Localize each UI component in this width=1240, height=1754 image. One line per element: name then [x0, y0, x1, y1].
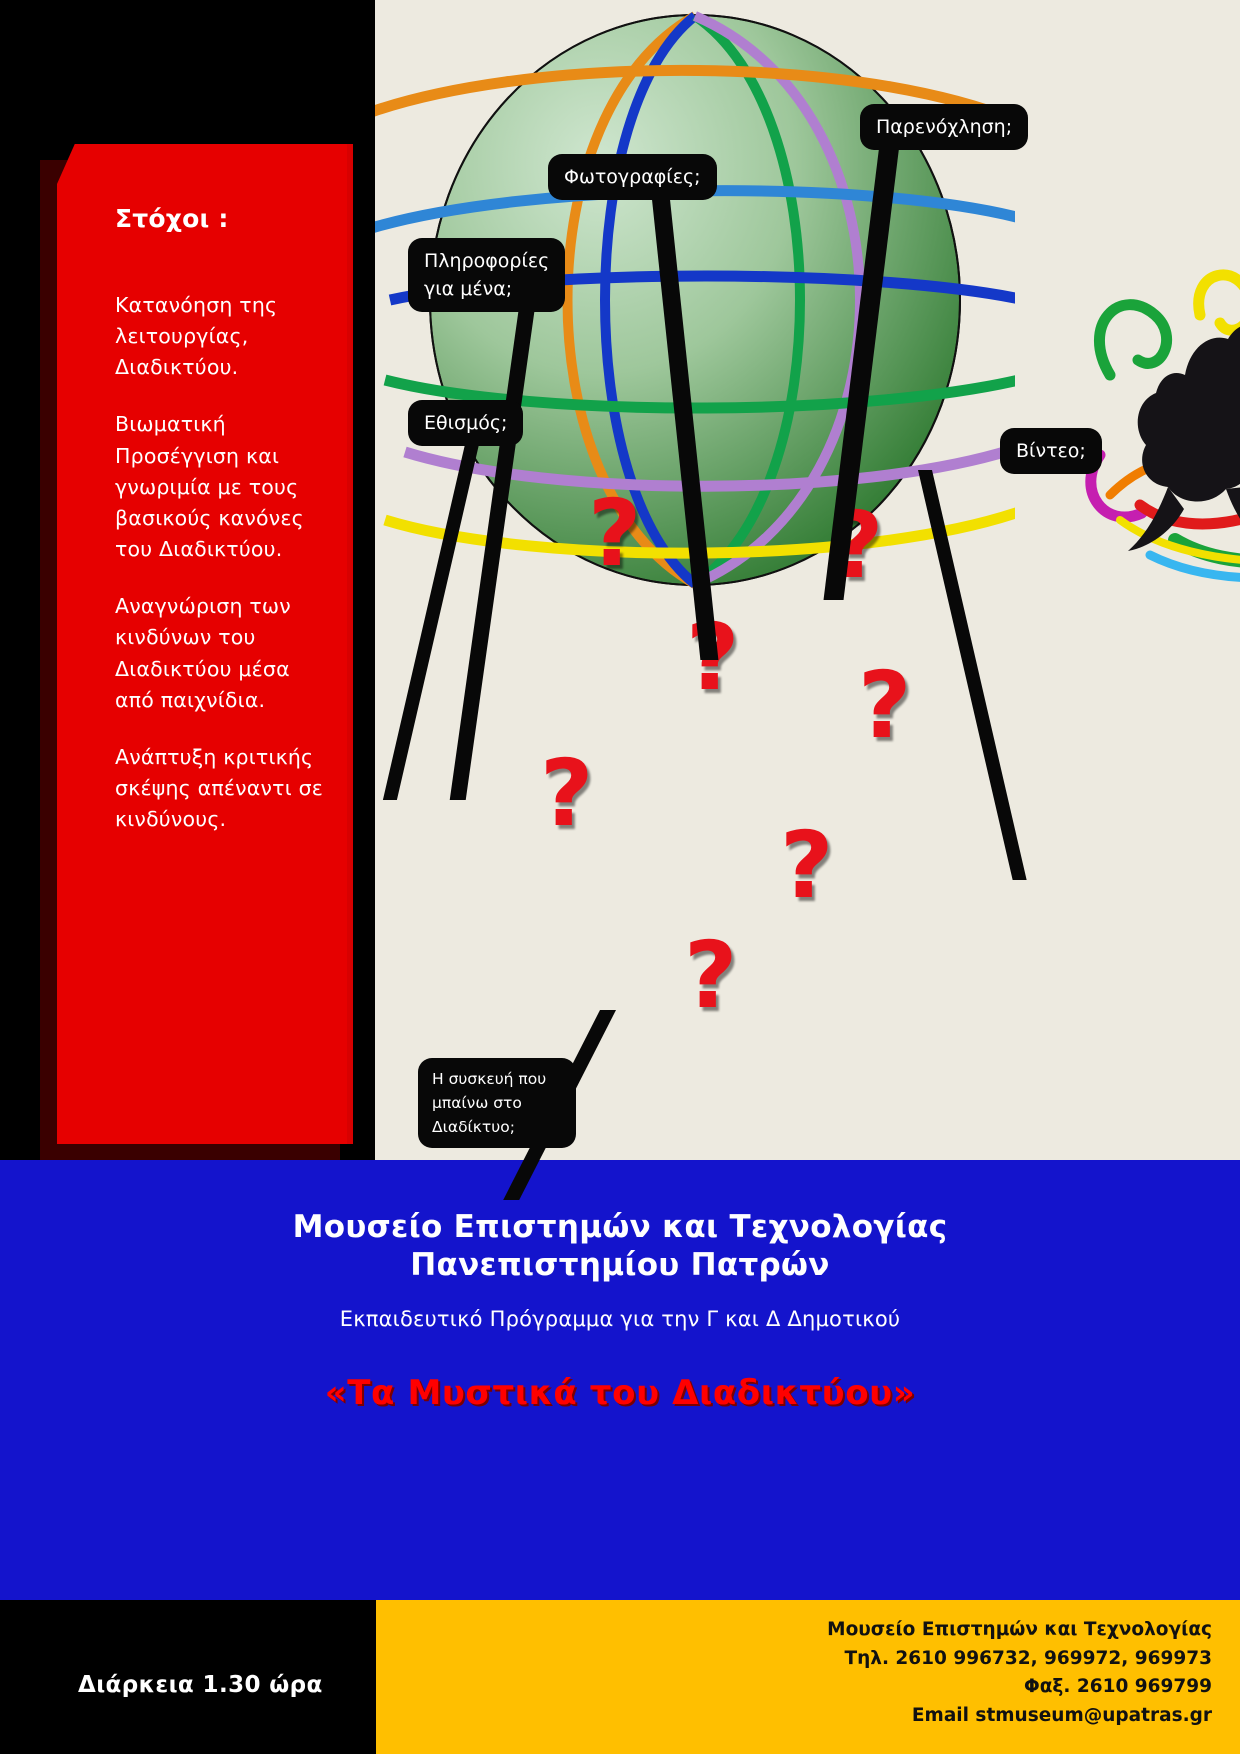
- museum-title-line2: Πανεπιστημίου Πατρών: [0, 1246, 1240, 1284]
- question-mark: ?: [588, 488, 641, 580]
- contact-line: Email stmuseum@upatras.gr: [376, 1702, 1212, 1731]
- contact-line: Φαξ. 2610 969799: [376, 1673, 1212, 1702]
- artwork-panel: [375, 0, 1240, 1160]
- callout-parenoxlisi[interactable]: Παρενόχληση;: [860, 104, 1028, 150]
- contact-panel: Μουσείο Επιστημών και Τεχνολογίας Τηλ. 2…: [376, 1600, 1240, 1754]
- objective-item: Βιωματική Προσέγγιση και γνωριμία με του…: [115, 409, 327, 565]
- footer-blue-band: Μουσείο Επιστημών και Τεχνολογίας Πανεπι…: [0, 1160, 1240, 1600]
- callout-video[interactable]: Βίντεο;: [1000, 428, 1102, 474]
- museum-title-line1: Μουσείο Επιστημών και Τεχνολογίας: [0, 1208, 1240, 1246]
- objectives-box: Στόχοι : Κατανόηση της λειτουργίας, Διαδ…: [57, 144, 353, 1144]
- question-mark: ?: [780, 820, 833, 912]
- objective-item: Ανάπτυξη κριτικής σκέψης απέναντι σε κιν…: [115, 742, 327, 835]
- poster-root: ? ? ? ? ? ? ? Παρενόχληση; Φωτογραφίες; …: [0, 0, 1240, 1754]
- objective-item: Αναγνώριση των κινδύνων του Διαδικτύου μ…: [115, 591, 327, 716]
- contact-line: Μουσείο Επιστημών και Τεχνολογίας: [376, 1616, 1212, 1645]
- callout-ethismos[interactable]: Εθισμός;: [408, 400, 523, 446]
- objective-item: Κατανόηση της λειτουργίας, Διαδικτύου.: [115, 290, 327, 383]
- callout-siskevi[interactable]: Η συσκευή που μπαίνω στο Διαδίκτυο;: [418, 1058, 576, 1148]
- question-mark: ?: [540, 748, 593, 840]
- objectives-title: Στόχοι :: [115, 200, 327, 238]
- callout-plirofories[interactable]: Πληροφορίες για μένα;: [408, 238, 565, 312]
- tentacles-graphic: [1080, 255, 1240, 595]
- contact-line: Τηλ. 2610 996732, 969972, 969973: [376, 1645, 1212, 1674]
- callout-fotografies[interactable]: Φωτογραφίες;: [548, 154, 717, 200]
- museum-title: Μουσείο Επιστημών και Τεχνολογίας Πανεπι…: [0, 1160, 1240, 1285]
- question-mark: ?: [858, 660, 911, 752]
- question-mark: ?: [684, 930, 737, 1022]
- program-title: «Τα Μυστικά του Διαδικτύου»: [0, 1373, 1240, 1413]
- program-subtitle: Εκπαιδευτικό Πρόγραμμα για την Γ και Δ Δ…: [0, 1307, 1240, 1331]
- duration-text: Διάρκεια 1.30 ώρα: [78, 1672, 323, 1698]
